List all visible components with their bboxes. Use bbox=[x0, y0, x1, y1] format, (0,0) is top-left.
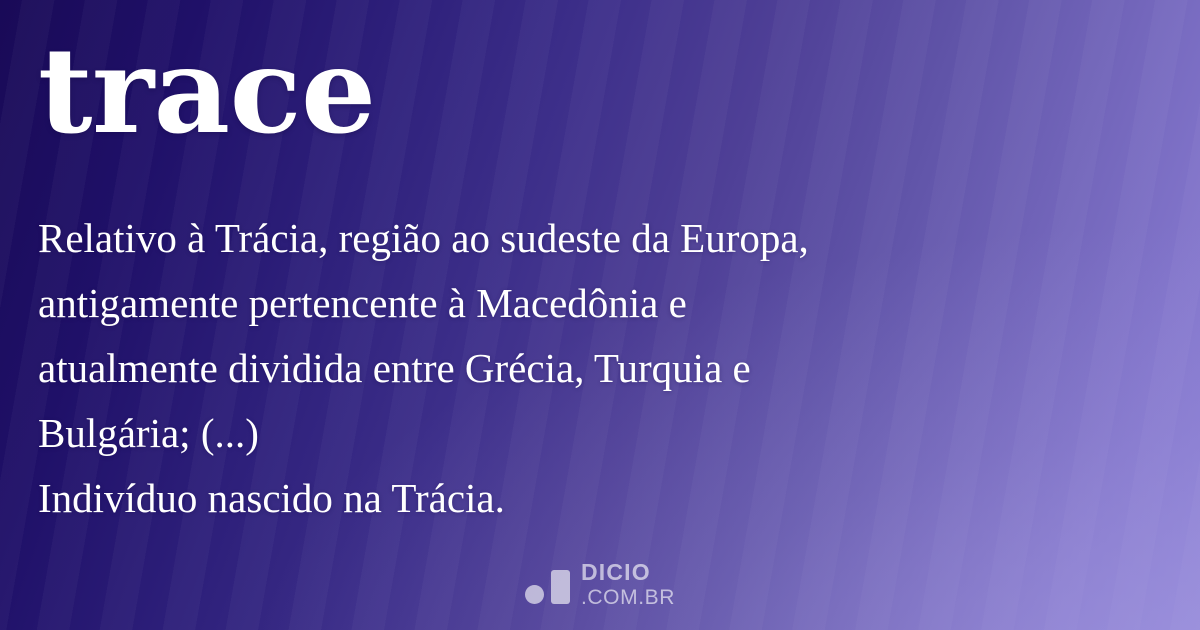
circle-mark-icon bbox=[525, 585, 544, 604]
dicio-logo-text: DICIO .COM.BR bbox=[581, 561, 675, 608]
og-share-card: trace Relativo à Trácia, região ao sudes… bbox=[0, 0, 1200, 630]
dicio-logo-mark bbox=[525, 566, 570, 604]
brand-tld-label: .COM.BR bbox=[581, 587, 675, 608]
dicio-logo: DICIO .COM.BR bbox=[0, 561, 1200, 608]
definition-line: atualmente dividida entre Grécia, Turqui… bbox=[38, 336, 1162, 401]
definition-line: antigamente pertencente à Macedônia e bbox=[38, 271, 1162, 336]
definition-line: Relativo à Trácia, região ao sudeste da … bbox=[38, 206, 1162, 271]
entry-word-title: trace bbox=[38, 28, 376, 153]
definition-line: Indivíduo nascido na Trácia. bbox=[38, 466, 1162, 531]
definition-block: Relativo à Trácia, região ao sudeste da … bbox=[38, 206, 1162, 531]
definition-line: Bulgária; (...) bbox=[38, 401, 1162, 466]
card-content: trace Relativo à Trácia, região ao sudes… bbox=[0, 0, 1200, 630]
brand-name-label: DICIO bbox=[581, 561, 675, 584]
bar-mark-icon bbox=[551, 570, 570, 604]
